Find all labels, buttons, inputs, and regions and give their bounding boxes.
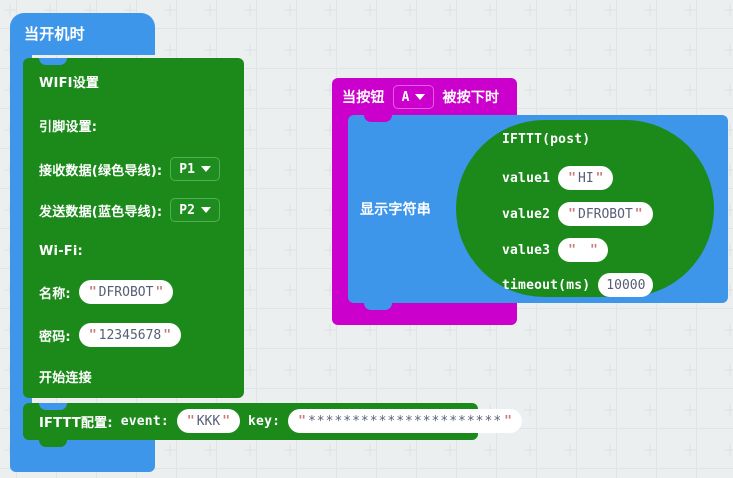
block-hat-on-start[interactable]: 当开机时: [10, 13, 155, 55]
quote-close: ": [588, 243, 600, 258]
receive-pin-row: 接收数据(绿色导线): P1: [39, 157, 220, 181]
block-ifttt-post[interactable]: IFTTT(post) value1 " HI " value2 " DFROB…: [456, 120, 714, 297]
ifttt-post-value2-row: value2 " DFROBOT ": [502, 202, 653, 226]
quote-open: ": [185, 414, 197, 429]
ifttt-config-title: IFTTT配置:: [39, 412, 113, 431]
hat-on-start-label: 当开机时: [24, 23, 85, 44]
blocks-workspace-canvas[interactable]: 当开机时 WIFI设置 引脚设置: 接收数据(绿色导线): P1 发送数据(蓝色…: [0, 0, 733, 478]
ifttt-config-event-value: KKK: [197, 414, 220, 429]
wifi-ssid-row: 名称: " DFROBOT ": [39, 280, 173, 304]
ifttt-post-title: IFTTT(post): [502, 132, 590, 147]
quote-close: ": [161, 328, 173, 343]
ifttt-post-timeout-row: timeout(ms) 10000: [502, 273, 653, 297]
pin-section-row: 引脚设置:: [39, 116, 97, 135]
quote-open: ": [566, 207, 578, 222]
wifi-section-row: Wi-Fi:: [39, 244, 83, 259]
quote-open: ": [296, 414, 308, 429]
ifttt-post-timeout-input[interactable]: 10000: [598, 273, 653, 297]
ifttt-config-key-input[interactable]: " ********************** ": [288, 409, 522, 433]
ifttt-post-value3-label: value3: [502, 243, 550, 258]
send-pin-dropdown[interactable]: P2: [170, 198, 220, 222]
block-wifi-setup[interactable]: WIFI设置 引脚设置: 接收数据(绿色导线): P1 发送数据(蓝色导线): …: [23, 58, 244, 398]
start-connect-row: 开始连接: [39, 367, 92, 386]
ifttt-post-value1-input[interactable]: " HI ": [558, 166, 613, 190]
ifttt-post-timeout-value: 10000: [606, 278, 645, 293]
hat-on-button-suffix-label: 被按下时: [442, 87, 499, 107]
ifttt-post-title-row: IFTTT(post): [502, 132, 590, 147]
wifi-title-row: WIFI设置: [39, 72, 99, 91]
receive-pin-dropdown-value: P1: [179, 162, 195, 177]
chevron-down-icon: [415, 94, 425, 100]
wifi-ssid-input[interactable]: " DFROBOT ": [79, 280, 173, 304]
wifi-password-input[interactable]: " 12345678 ": [79, 323, 181, 347]
quote-close: ": [220, 414, 232, 429]
quote-open: ": [87, 285, 99, 300]
ifttt-post-value2-input[interactable]: " DFROBOT ": [558, 202, 652, 226]
send-pin-row: 发送数据(蓝色导线): P2: [39, 198, 220, 222]
start-connect-label: 开始连接: [39, 367, 92, 386]
hat-on-button-content: 当按钮 A 被按下时: [342, 85, 499, 109]
ifttt-config-key-label: key:: [248, 414, 280, 429]
ifttt-post-value3-input[interactable]: " ": [558, 238, 608, 262]
quote-open: ": [566, 171, 578, 186]
quote-close: ": [153, 285, 165, 300]
ifttt-post-value1-label: value1: [502, 171, 550, 186]
block-ifttt-config[interactable]: IFTTT配置: event: " KKK " key: " *********…: [23, 403, 478, 440]
block-notch-bottom: [364, 303, 392, 310]
wifi-password-row: 密码: " 12345678 ": [39, 323, 181, 347]
wifi-ssid-label: 名称:: [39, 283, 71, 302]
ifttt-post-value3-row: value3 " ": [502, 238, 608, 262]
ifttt-post-value1-row: value1 " HI ": [502, 166, 613, 190]
send-pin-label: 发送数据(蓝色导线):: [39, 201, 162, 220]
wifi-ssid-value: DFROBOT: [99, 285, 154, 300]
ifttt-config-event-input[interactable]: " KKK ": [177, 409, 240, 433]
block-notch: [364, 115, 392, 122]
quote-close: ": [594, 171, 606, 186]
quote-close: ": [502, 414, 514, 429]
chevron-down-icon: [201, 207, 211, 213]
quote-close: ": [633, 207, 645, 222]
ifttt-post-value2-value: DFROBOT: [578, 207, 633, 222]
ifttt-post-timeout-label: timeout(ms): [502, 278, 590, 293]
receive-pin-label: 接收数据(绿色导线):: [39, 160, 162, 179]
wifi-password-value: 12345678: [99, 328, 162, 343]
block-hat-on-button-pressed[interactable]: 当按钮 A 被按下时: [332, 78, 517, 118]
show-string-label: 显示字符串: [360, 199, 431, 219]
wifi-password-label: 密码:: [39, 326, 71, 345]
receive-pin-dropdown[interactable]: P1: [170, 157, 220, 181]
on-start-wrapper-foot[interactable]: [10, 440, 155, 472]
quote-open: ": [87, 328, 99, 343]
ifttt-config-row: IFTTT配置: event: " KKK " key: " *********…: [39, 409, 522, 433]
ifttt-config-event-label: event:: [121, 414, 169, 429]
wifi-section-label: Wi-Fi:: [39, 244, 83, 259]
chevron-down-icon: [201, 166, 211, 172]
hat-on-button-prefix-label: 当按钮: [342, 87, 385, 107]
ifttt-config-key-value: **********************: [308, 414, 502, 429]
pin-section-label: 引脚设置:: [39, 116, 97, 135]
button-select-dropdown-value: A: [402, 90, 410, 105]
ifttt-post-value2-label: value2: [502, 207, 550, 222]
block-notch-bottom: [39, 440, 67, 447]
block-notch: [39, 58, 67, 65]
button-select-dropdown[interactable]: A: [393, 85, 435, 109]
quote-open: ": [566, 243, 578, 258]
ifttt-post-value1-value: HI: [578, 171, 594, 186]
send-pin-dropdown-value: P2: [179, 203, 195, 218]
wifi-title-label: WIFI设置: [39, 72, 99, 91]
